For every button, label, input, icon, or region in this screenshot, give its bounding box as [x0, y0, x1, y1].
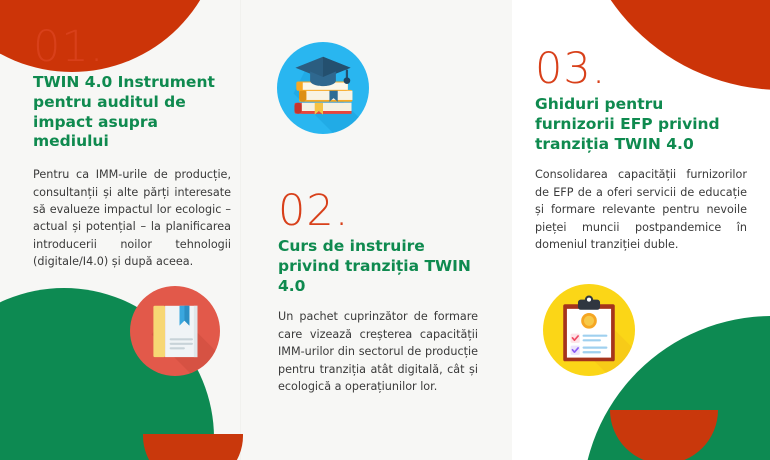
- item-body-02: Un pachet cuprinzător de formare care vi…: [278, 308, 478, 395]
- item-body-03: Consolidarea capacității furnizorilor de…: [535, 166, 747, 253]
- item-body-01: Pentru ca IMM-urile de producție, consul…: [33, 166, 231, 270]
- column-divider: [240, 0, 241, 460]
- item-number-01: 01.: [33, 26, 231, 69]
- bottom-left-red-semicircle: [143, 434, 243, 460]
- item-number-03: 03.: [535, 48, 747, 91]
- item-block-03: 03. Ghiduri pentru furnizorii EFP privin…: [535, 48, 747, 253]
- item-heading-01: TWIN 4.0 Instrument pentru auditul de im…: [33, 73, 231, 152]
- clipboard-certificate-icon: [543, 284, 635, 376]
- item-heading-03: Ghiduri pentru furnizorii EFP privind tr…: [535, 95, 747, 154]
- item-number-02: 02.: [278, 190, 478, 233]
- item-block-01: 01. TWIN 4.0 Instrument pentru auditul d…: [33, 26, 231, 270]
- infographic-canvas: 01. TWIN 4.0 Instrument pentru auditul d…: [0, 0, 770, 460]
- item-heading-02: Curs de instruire privind tranziția TWIN…: [278, 237, 478, 296]
- book-bookmark-icon: [130, 286, 220, 376]
- item-block-02: 02. Curs de instruire privind tranziția …: [278, 190, 478, 395]
- graduation-books-icon: [277, 42, 369, 134]
